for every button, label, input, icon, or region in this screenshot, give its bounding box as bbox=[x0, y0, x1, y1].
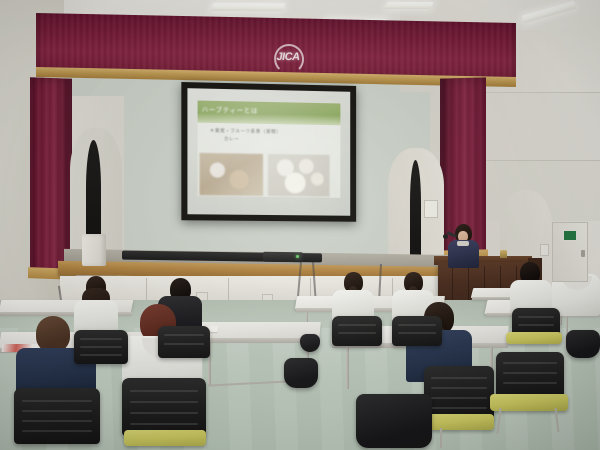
chair-seat-far-right[interactable] bbox=[506, 332, 562, 344]
table-front-right-leg-1 bbox=[346, 347, 349, 389]
chair-slat bbox=[431, 407, 487, 409]
projector-status-led bbox=[296, 255, 299, 258]
chair-back-center-front[interactable] bbox=[122, 378, 206, 436]
door-handle-icon[interactable] bbox=[581, 250, 585, 257]
chair-slat bbox=[80, 346, 122, 348]
chair-back-mid-center[interactable] bbox=[158, 326, 210, 358]
microphone-icon bbox=[443, 234, 448, 239]
chair-slat bbox=[398, 324, 436, 326]
chair-back-mid-right-2[interactable] bbox=[392, 316, 442, 346]
slide-body-line-1: ＊果実・フルーツ系茶（果物） bbox=[210, 128, 281, 135]
presentation-hall-photo: JICA ハーブティーとは ＊果実・フルーツ系茶（果物） カレー bbox=[0, 0, 600, 450]
chair-slat bbox=[130, 401, 198, 403]
chair-slat bbox=[22, 410, 92, 412]
chair-slat bbox=[22, 430, 92, 432]
chair-back-center-right[interactable] bbox=[424, 366, 494, 420]
jica-logo: JICA bbox=[268, 42, 309, 72]
slide-photo-right bbox=[268, 154, 330, 197]
chair-slat bbox=[431, 387, 487, 389]
attendee-1-head bbox=[36, 316, 70, 352]
slide-photo-left bbox=[200, 153, 263, 196]
backpack-floor-center[interactable] bbox=[356, 394, 432, 448]
slide-body-line-2: カレー bbox=[224, 136, 239, 142]
chair-slat bbox=[22, 400, 92, 402]
chair-slat bbox=[503, 382, 557, 384]
chair-slat bbox=[164, 343, 204, 345]
chair-slat bbox=[518, 316, 554, 318]
chair-back-mid-right-1[interactable] bbox=[332, 316, 382, 346]
projection-screen-surface: ハーブティーとは ＊果実・フルーツ系茶（果物） カレー bbox=[187, 88, 350, 216]
ceiling-light-1 bbox=[211, 3, 286, 12]
presenter-collar bbox=[457, 241, 469, 246]
chair-slat bbox=[338, 324, 376, 326]
wall-notice-frame bbox=[424, 200, 438, 218]
chair-slat bbox=[80, 354, 122, 356]
chair-back-left-front[interactable] bbox=[14, 388, 100, 444]
chair-slat bbox=[22, 420, 92, 422]
chair-slat bbox=[503, 362, 557, 364]
chair-slat bbox=[130, 390, 198, 392]
jica-logo-text: JICA bbox=[276, 51, 299, 63]
chair-slat bbox=[164, 334, 204, 336]
projection-screen: ハーブティーとは ＊果実・フルーツ系茶（果物） カレー bbox=[181, 82, 356, 222]
chair-slat bbox=[431, 397, 487, 399]
chair-seat-center-front[interactable] bbox=[124, 430, 206, 446]
ceiling-light-3 bbox=[384, 2, 433, 9]
backpack-under-table-center[interactable] bbox=[284, 358, 318, 388]
stage-arch-right-opening bbox=[410, 160, 421, 266]
bag-under-table-right[interactable] bbox=[566, 330, 600, 358]
wall-switch-plate[interactable] bbox=[540, 244, 549, 256]
podium-object bbox=[500, 250, 507, 258]
chair-slat bbox=[518, 324, 554, 326]
chair-slat bbox=[398, 332, 436, 334]
chair-slat bbox=[503, 372, 557, 374]
presentation-slide: ハーブティーとは ＊果実・フルーツ系茶（果物） カレー bbox=[198, 101, 341, 198]
chair-leg-center-right bbox=[440, 428, 442, 448]
emergency-exit-sign bbox=[563, 230, 577, 241]
chair-slat bbox=[80, 338, 122, 340]
chair-slat bbox=[130, 412, 198, 414]
chair-back-mid-left[interactable] bbox=[74, 330, 128, 364]
chair-slat bbox=[130, 423, 198, 425]
chair-slat bbox=[338, 332, 376, 334]
attendee-3-body bbox=[74, 300, 118, 334]
chair-slat bbox=[431, 377, 487, 379]
air-conditioner-unit bbox=[82, 234, 106, 266]
